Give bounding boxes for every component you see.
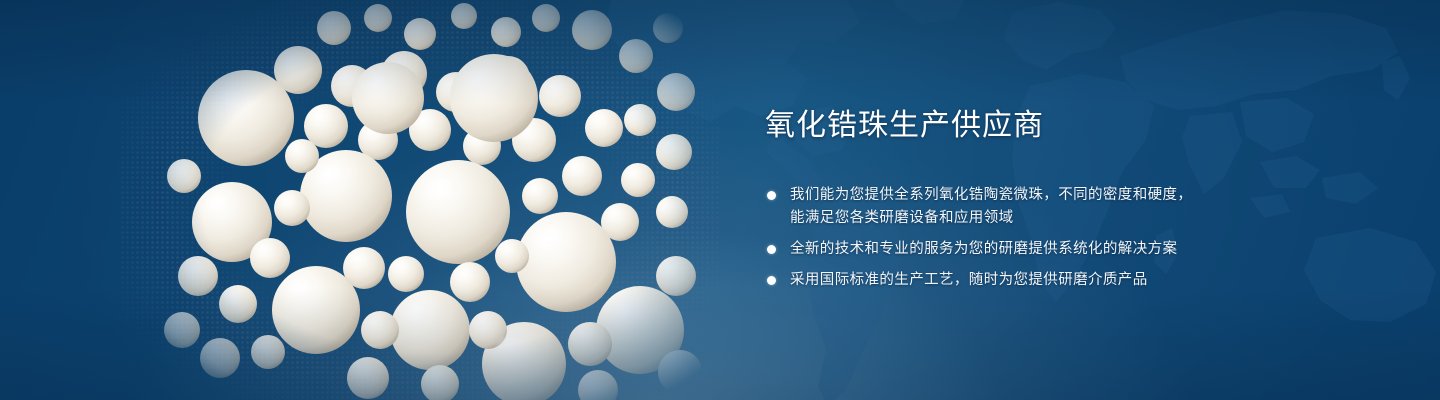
page-title: 氧化锆珠生产供应商 bbox=[765, 108, 1385, 144]
list-item-line: 我们能为您提供全系列氧化锆陶瓷微珠，不同的密度和硬度， bbox=[790, 184, 1385, 207]
banner-copy: 氧化锆珠生产供应商 我们能为您提供全系列氧化锆陶瓷微珠，不同的密度和硬度， 能满… bbox=[765, 108, 1385, 292]
list-item: 采用国际标准的生产工艺，随时为您提供研磨介质产品 bbox=[765, 269, 1385, 292]
list-item: 我们能为您提供全系列氧化锆陶瓷微珠，不同的密度和硬度， 能满足您各类研磨设备和应… bbox=[765, 184, 1385, 230]
feature-list: 我们能为您提供全系列氧化锆陶瓷微珠，不同的密度和硬度， 能满足您各类研磨设备和应… bbox=[765, 184, 1385, 292]
list-item-line: 采用国际标准的生产工艺，随时为您提供研磨介质产品 bbox=[790, 269, 1385, 292]
list-item-line: 能满足您各类研磨设备和应用领域 bbox=[790, 207, 1385, 230]
list-item: 全新的技术和专业的服务为您的研磨提供系统化的解决方案 bbox=[765, 238, 1385, 261]
list-item-line: 全新的技术和专业的服务为您的研磨提供系统化的解决方案 bbox=[790, 238, 1385, 261]
bullet-dot-icon bbox=[767, 191, 776, 200]
bullet-dot-icon bbox=[767, 276, 776, 285]
hero-banner: 氧化锆珠生产供应商 我们能为您提供全系列氧化锆陶瓷微珠，不同的密度和硬度， 能满… bbox=[0, 0, 1440, 400]
bullet-dot-icon bbox=[767, 245, 776, 254]
